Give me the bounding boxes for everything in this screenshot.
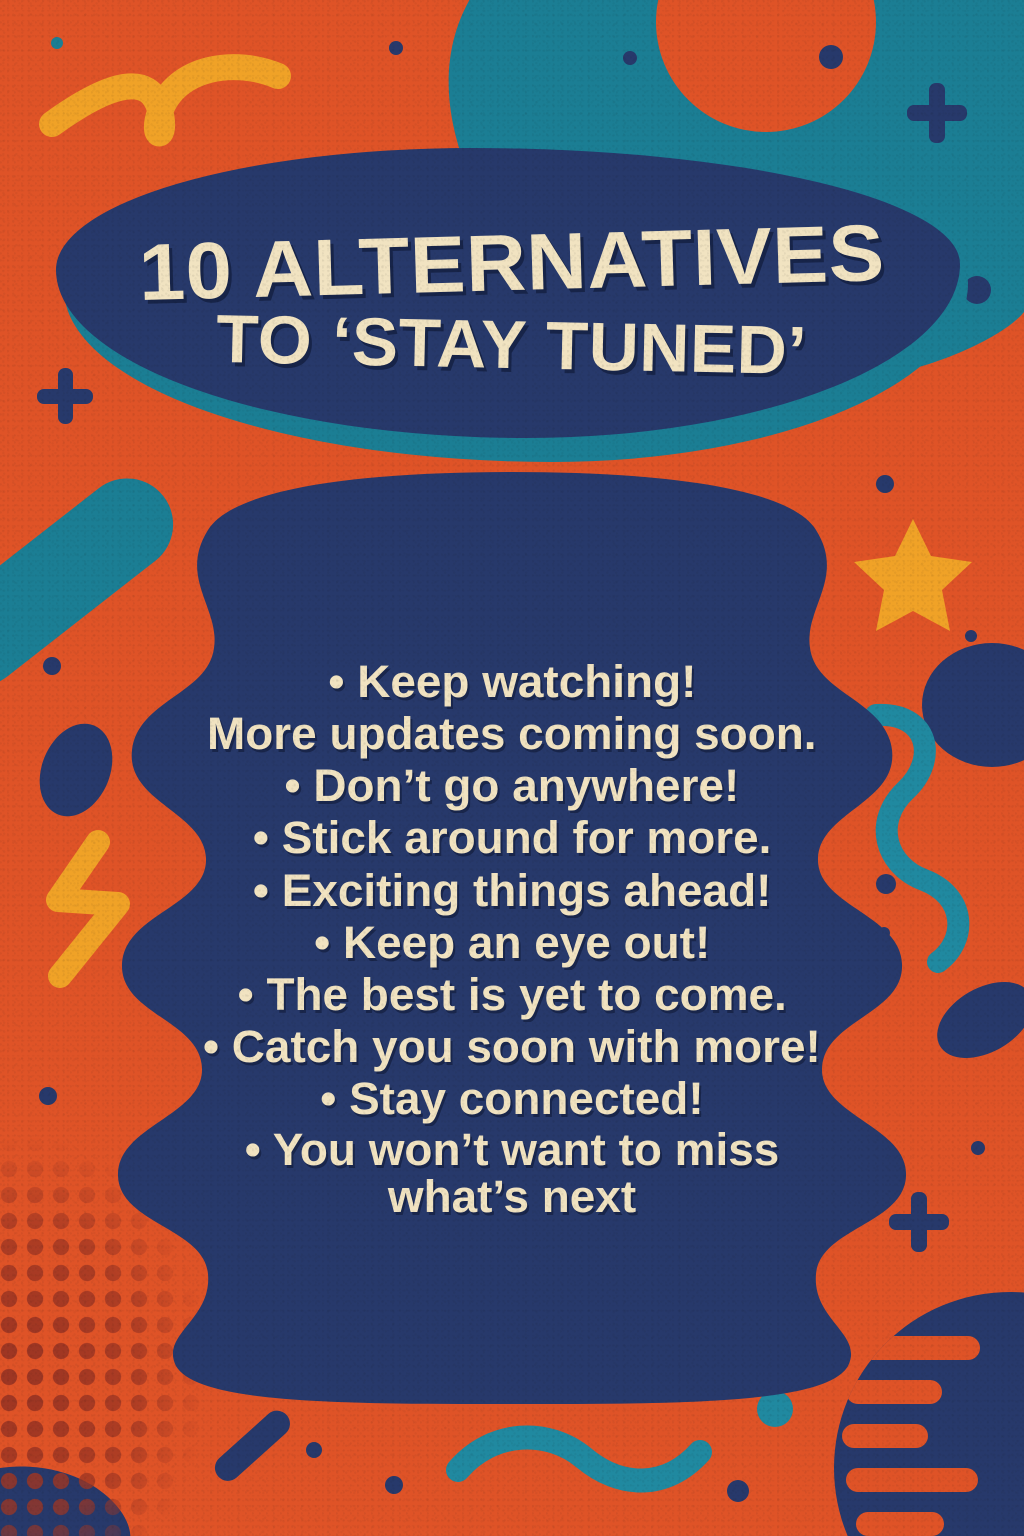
front-decorations (0, 0, 1024, 1536)
front-shapes-svg (0, 0, 1024, 1536)
poster-canvas: 10 ALTERNATIVES TO ‘STAY TUNED’ • Keep w… (0, 0, 1024, 1536)
striped-circle-bottom-right (834, 1292, 1024, 1536)
